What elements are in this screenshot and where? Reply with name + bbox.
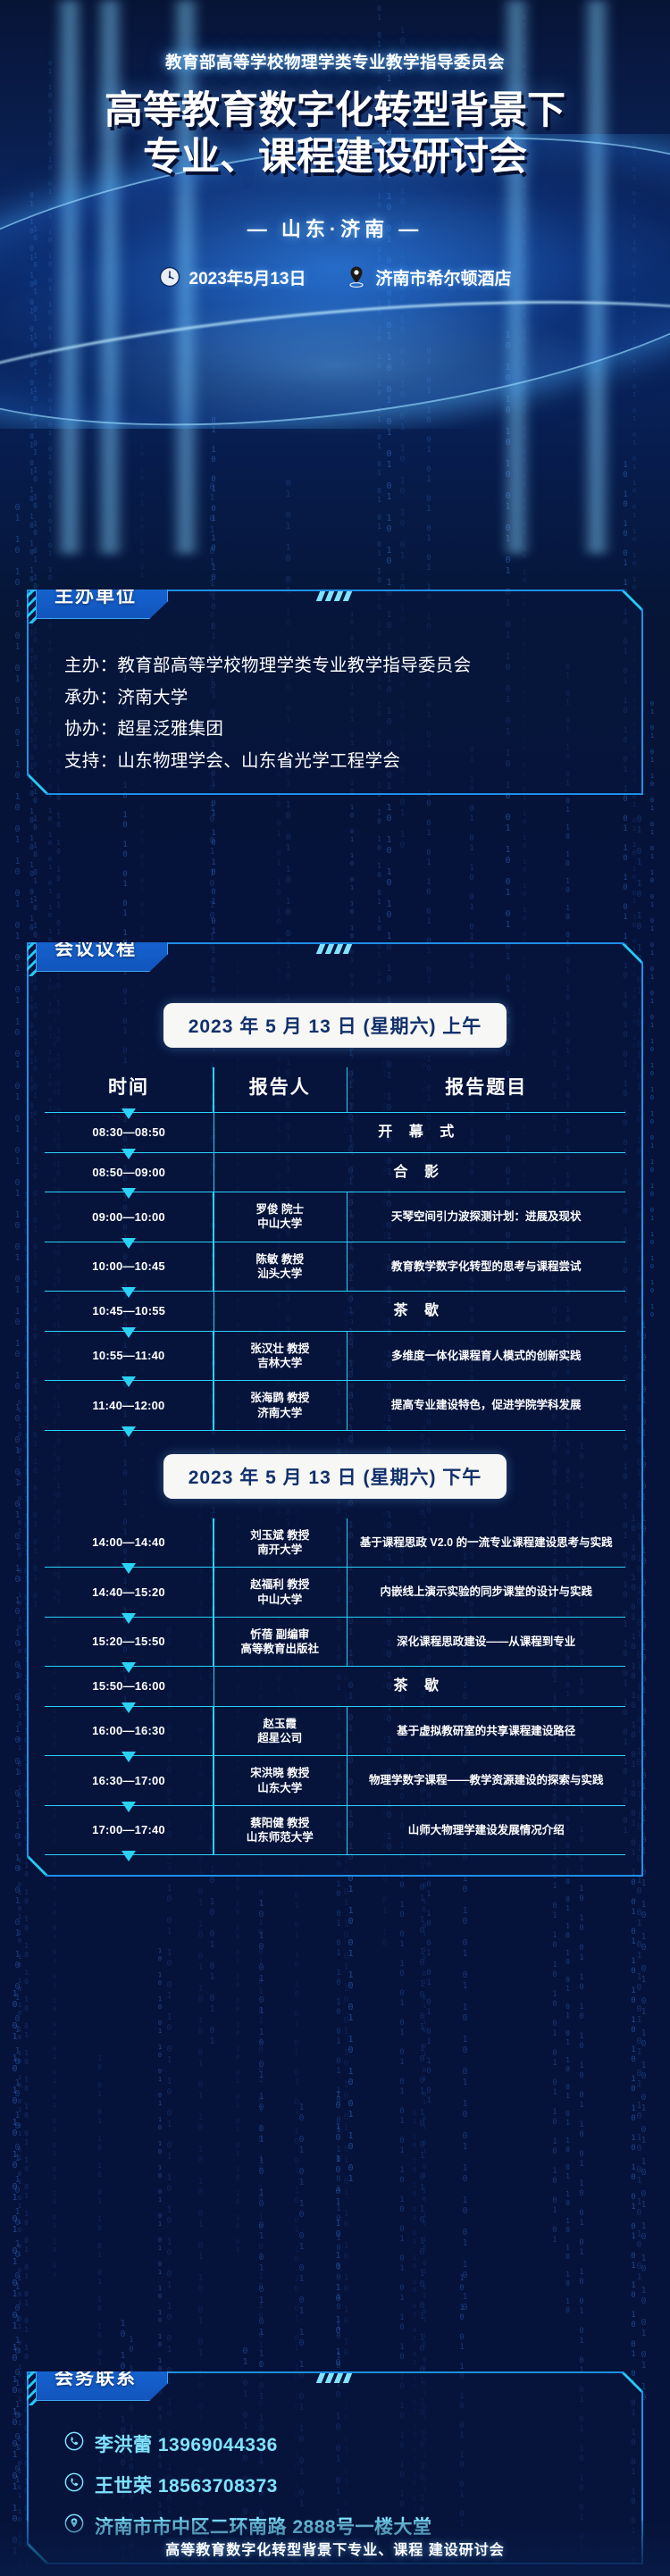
table-row: 16:00—16:30赵玉霞超星公司基于虚拟教研室的共享课程建设路径: [45, 1706, 625, 1756]
agenda-time-cell: 09:00—10:00: [45, 1192, 214, 1242]
agenda-speaker-cell: 赵福利 教授中山大学: [214, 1568, 348, 1618]
agenda-topic-cell: 物理学数字课程——教学资源建设的探索与实践: [347, 1756, 625, 1806]
event-venue: 济南市希尔顿酒店: [347, 265, 511, 289]
speaker-name: 陈敏 教授: [219, 1252, 341, 1267]
page-title: 高等教育数字化转型背景下 专业、课程建设研讨会: [0, 88, 670, 181]
header-glow: [0, 268, 670, 464]
agenda-topic-cell: 内嵌线上演示实验的同步课堂的设计与实践: [347, 1568, 625, 1618]
agenda-break-cell: 茶 歇: [214, 1667, 626, 1707]
speaker-affiliation: 山东师范大学: [219, 1830, 341, 1844]
agenda-topic-cell: 天琴空间引力波探测计划：进展及现状: [347, 1192, 625, 1242]
corner-accent-bottom-left: [29, 774, 48, 793]
table-row: 11:40—12:00张海鹍 教授济南大学提高专业建设特色，促进学院学科发展: [45, 1381, 625, 1431]
agenda-time-cell: 17:00—17:40: [45, 1805, 214, 1855]
agenda-time-cell: 16:30—17:00: [45, 1756, 214, 1806]
agenda-topic-cell: 基于课程思政 V2.0 的一流专业课程建设思考与实践: [347, 1518, 625, 1568]
agenda-timeline: [214, 1518, 215, 1856]
event-date-text: 2023年5月13日: [189, 265, 306, 289]
speaker-affiliation: 吉林大学: [219, 1356, 341, 1370]
sponsor-line: 主办：教育部高等学校物理学类专业教学指导委员会: [64, 657, 618, 675]
agenda-break-cell: 开 幕 式: [214, 1113, 626, 1153]
footer-text: 高等教育数字化转型背景下专业、课程 建设研讨会: [165, 2538, 504, 2559]
contact-text: 王世荣 18563708373: [95, 2471, 278, 2498]
speaker-name: 赵玉霞: [219, 1717, 341, 1731]
contact-item[interactable]: 李洪蕾 13969044336: [64, 2430, 618, 2457]
agenda-speaker-cell: 宋洪晓 教授山东大学: [214, 1756, 348, 1806]
agenda-panel: 会议议程 2023 年 5 月 13 日 (星期六) 上午时间报告人报告题目08…: [27, 942, 643, 1877]
table-row: 10:55—11:40张汉壮 教授吉林大学多维度一体化课程育人模式的创新实践: [45, 1331, 625, 1381]
table-row: 09:00—10:00罗俊 院士中山大学天琴空间引力波探测计划：进展及现状: [45, 1192, 625, 1242]
agenda-break-cell: 合 影: [214, 1152, 626, 1192]
agenda-box: 会议议程 2023 年 5 月 13 日 (星期六) 上午时间报告人报告题目08…: [27, 942, 643, 1877]
table-row: 17:00—17:40蔡阳健 教授山东师范大学山师大物理学建设发展情况介绍: [45, 1805, 625, 1855]
speaker-name: 张海鹍 教授: [219, 1391, 341, 1405]
phone-icon: [64, 2431, 84, 2456]
agenda-speaker-cell: 陈敏 教授汕头大学: [214, 1242, 348, 1292]
agenda-speaker-cell: 刘玉斌 教授南开大学: [214, 1518, 348, 1568]
agenda-day-label: 2023 年 5 月 13 日 (星期六) 下午: [163, 1454, 507, 1499]
sponsor-line: 支持：山东物理学会、山东省光学工程学会: [64, 753, 618, 771]
speaker-name: 忻蓓 副编审: [219, 1627, 341, 1642]
speaker-affiliation: 济南大学: [219, 1406, 341, 1420]
agenda-speaker-cell: 忻蓓 副编审高等教育出版社: [214, 1617, 348, 1667]
speaker-affiliation: 汕头大学: [219, 1267, 341, 1281]
speaker-affiliation: 超星公司: [219, 1731, 341, 1745]
speaker-affiliation: 山东大学: [219, 1781, 341, 1795]
agenda-speaker-cell: 赵玉霞超星公司: [214, 1706, 348, 1756]
table-row: 14:00—14:40刘玉斌 教授南开大学基于课程思政 V2.0 的一流专业课程…: [45, 1518, 625, 1568]
agenda-sessions: 2023 年 5 月 13 日 (星期六) 上午时间报告人报告题目08:30—0…: [45, 1003, 625, 1855]
table-row: 15:20—15:50忻蓓 副编审高等教育出版社深化课程思政建设——从课程到专业: [45, 1617, 625, 1667]
agenda-time-cell: 10:55—11:40: [45, 1331, 214, 1381]
agenda-column-header: 报告人: [214, 1067, 348, 1113]
sponsors-box: 主办单位 主办：教育部高等学校物理学类专业教学指导委员会 承办：济南大学 协办：…: [27, 590, 643, 795]
agenda-speaker-cell: 罗俊 院士中山大学: [214, 1192, 348, 1242]
agenda-table: 时间报告人报告题目08:30—08:50开 幕 式08:50—09:00合 影0…: [45, 1067, 625, 1431]
title-line-2: 专业、课程建设研讨会: [0, 134, 670, 180]
agenda-break-cell: 茶 歇: [214, 1292, 626, 1332]
speaker-name: 蔡阳健 教授: [219, 1816, 341, 1830]
tag-right-dashes-icon: [318, 591, 350, 601]
hero-section: 教育部高等学校物理学类专业教学指导委员会 高等教育数字化转型背景下 专业、课程建…: [0, 0, 670, 289]
speaker-affiliation: 中山大学: [219, 1593, 341, 1607]
agenda-topic-cell: 提高专业建设特色，促进学院学科发展: [347, 1381, 625, 1431]
speaker-name: 宋洪晓 教授: [219, 1766, 341, 1780]
agenda-time-cell: 14:00—14:40: [45, 1518, 214, 1568]
map-pin-icon: [347, 265, 366, 289]
footer-bar: 高等教育数字化转型背景下专业、课程 建设研讨会: [0, 2521, 670, 2576]
agenda-time-cell: 11:40—12:00: [45, 1381, 214, 1431]
agenda-day-label: 2023 年 5 月 13 日 (星期六) 上午: [163, 1003, 507, 1048]
agenda-time-cell: 15:20—15:50: [45, 1617, 214, 1667]
agenda-speaker-cell: 张海鹍 教授济南大学: [214, 1381, 348, 1431]
agenda-topic-cell: 教育教学数字化转型的思考与课程尝试: [347, 1242, 625, 1292]
table-row: 10:00—10:45陈敏 教授汕头大学教育教学数字化转型的思考与课程尝试: [45, 1242, 625, 1292]
corner-accent-bottom-left: [29, 1855, 48, 1875]
agenda-topic-cell: 山师大物理学建设发展情况介绍: [347, 1805, 625, 1855]
agenda-topic-cell: 多维度一体化课程育人模式的创新实践: [347, 1331, 625, 1381]
contact-item[interactable]: 王世荣 18563708373: [64, 2471, 618, 2498]
corner-accent-top-right: [622, 2373, 641, 2393]
agenda-column-header: 时间: [45, 1067, 214, 1113]
agenda-topic-cell: 基于虚拟教研室的共享课程建设路径: [347, 1706, 625, 1756]
speaker-affiliation: 中山大学: [219, 1217, 341, 1231]
table-row: 16:30—17:00宋洪晓 教授山东大学物理学数字课程——教学资源建设的探索与…: [45, 1756, 625, 1806]
organizer-line: 教育部高等学校物理学类专业教学指导委员会: [0, 50, 670, 73]
agenda-column-header: 报告题目: [347, 1067, 625, 1113]
phone-icon: [64, 2472, 84, 2497]
title-line-1: 高等教育数字化转型背景下: [0, 88, 670, 134]
agenda-speaker-cell: 蔡阳健 教授山东师范大学: [214, 1805, 348, 1855]
speaker-affiliation: 南开大学: [219, 1543, 341, 1557]
corner-accent-top-right: [622, 944, 641, 964]
speaker-name: 赵福利 教授: [219, 1577, 341, 1592]
agenda-time-cell: 10:00—10:45: [45, 1242, 214, 1292]
sponsors-panel: 主办单位 主办：教育部高等学校物理学类专业教学指导委员会 承办：济南大学 协办：…: [27, 590, 643, 795]
agenda-topic-cell: 深化课程思政建设——从课程到专业: [347, 1617, 625, 1667]
speaker-name: 罗俊 院士: [219, 1202, 341, 1217]
speaker-affiliation: 高等教育出版社: [219, 1642, 341, 1656]
agenda-time-cell: 14:40—15:20: [45, 1568, 214, 1618]
speaker-name: 刘玉斌 教授: [219, 1528, 341, 1543]
speaker-name: 张汉壮 教授: [219, 1342, 341, 1356]
sponsor-line: 承办：济南大学: [64, 690, 618, 707]
tag-right-dashes-icon: [318, 2373, 350, 2383]
event-meta-row: 2023年5月13日 济南市希尔顿酒店: [0, 265, 670, 289]
event-venue-text: 济南市希尔顿酒店: [375, 265, 511, 289]
table-row: 14:40—15:20赵福利 教授中山大学内嵌线上演示实验的同步课堂的设计与实践: [45, 1568, 625, 1618]
event-date: 2023年5月13日: [159, 265, 306, 289]
agenda-speaker-cell: 张汉壮 教授吉林大学: [214, 1331, 348, 1381]
contact-text: 李洪蕾 13969044336: [95, 2430, 278, 2457]
clock-icon: [159, 266, 180, 288]
corner-accent-top-right: [622, 591, 641, 611]
agenda-table: 14:00—14:40刘玉斌 教授南开大学基于课程思政 V2.0 的一流专业课程…: [45, 1518, 625, 1856]
sponsor-line: 协办：超星泛雅集团: [64, 721, 618, 739]
place-line: — 山东·济南 —: [0, 213, 670, 242]
agenda-timeline: [214, 1067, 215, 1431]
tag-right-dashes-icon: [318, 944, 350, 954]
agenda-time-cell: 16:00—16:30: [45, 1706, 214, 1756]
